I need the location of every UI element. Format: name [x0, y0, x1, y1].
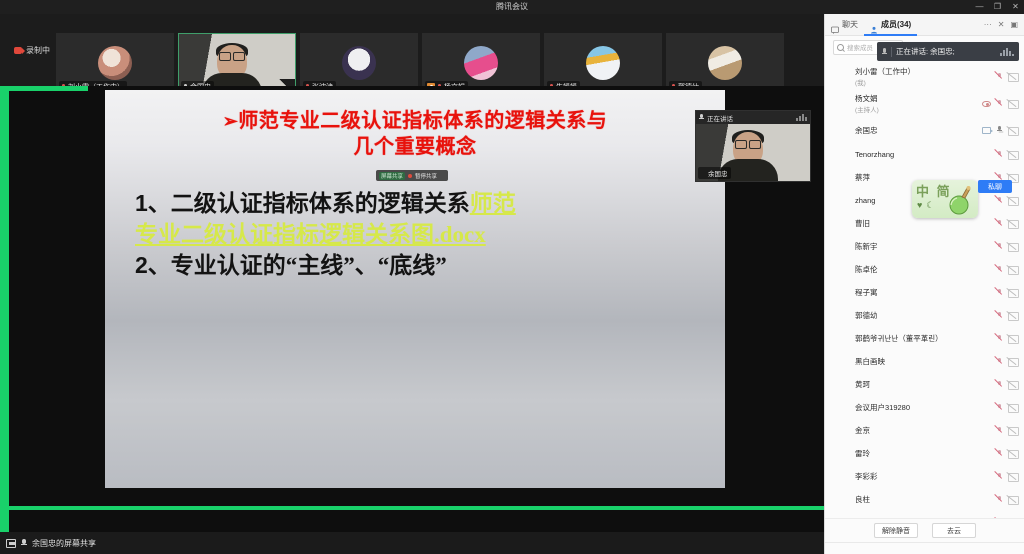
- slide-bullet-2: 2、专业认证的“主线”、“底线”: [135, 250, 705, 281]
- pip-nameplate: 余国忠: [698, 167, 731, 179]
- mic-off-icon[interactable]: [996, 242, 1003, 251]
- panel-bottom-edge: [825, 542, 1024, 554]
- mic-on-icon: [882, 48, 887, 56]
- speaking-toast-text: 正在讲话: 余国忠;: [896, 46, 955, 57]
- list-item[interactable]: 陈新宇: [825, 235, 1024, 258]
- mic-off-icon[interactable]: [996, 311, 1003, 320]
- row-icons: [996, 380, 1017, 389]
- share-border-bottom: [0, 506, 824, 510]
- chat-icon: [831, 21, 839, 29]
- participant-name: 余国忠: [855, 125, 878, 136]
- avatar: [835, 70, 849, 84]
- mic-off-icon[interactable]: [996, 334, 1003, 343]
- list-item[interactable]: 黄珂: [825, 373, 1024, 396]
- panel-close-icon[interactable]: ✕: [998, 20, 1005, 29]
- row-icons: [996, 242, 1017, 251]
- mic-off-icon[interactable]: [996, 472, 1003, 481]
- status-text: 余国忠的屏幕共享: [32, 538, 96, 549]
- mic-off-icon[interactable]: [996, 219, 1003, 228]
- mic-off-icon[interactable]: [996, 449, 1003, 458]
- avatar: [835, 447, 849, 461]
- camera-off-icon[interactable]: [1008, 381, 1017, 388]
- participant-name: zhang: [855, 196, 875, 205]
- tab-members[interactable]: 成员(34): [864, 14, 917, 36]
- camera-off-icon[interactable]: [1008, 151, 1017, 158]
- camera-off-icon[interactable]: [1008, 312, 1017, 319]
- list-item[interactable]: 李彩彩: [825, 465, 1024, 488]
- camera-off-icon[interactable]: [1008, 335, 1017, 342]
- mic-off-icon[interactable]: [996, 150, 1003, 159]
- shared-screen-stage: ➢师范专业二级认证指标体系的逻辑关系与 几个重要概念 1、二级认证指标体系的逻辑…: [0, 86, 824, 532]
- participant-name: 李彩彩: [855, 471, 878, 482]
- slide-heading-line1: 师范专业二级认证指标体系的逻辑关系与: [238, 110, 607, 132]
- audio-wave-icon: [1000, 48, 1014, 56]
- search-icon: [837, 44, 844, 51]
- tab-chat-label: 聊天: [842, 19, 858, 30]
- camera-off-icon[interactable]: [1008, 496, 1017, 503]
- self-view-pip[interactable]: 正在讲话 余国忠: [695, 110, 811, 182]
- panel-dock-icon[interactable]: ▣: [1010, 20, 1018, 29]
- avatar: [464, 46, 498, 80]
- divider: [891, 47, 892, 57]
- participant-name: 刘小雷（工作中）: [855, 66, 915, 77]
- avatar: [835, 309, 849, 323]
- avatar: [835, 378, 849, 392]
- share-border-top: [0, 86, 88, 91]
- camera-off-icon[interactable]: [1008, 100, 1017, 107]
- pause-share-label[interactable]: 暂停共享: [415, 172, 437, 180]
- row-icons: [996, 357, 1017, 366]
- avatar: [835, 240, 849, 254]
- presentation-slide: ➢师范专业二级认证指标体系的逻辑关系与 几个重要概念 1、二级认证指标体系的逻辑…: [105, 90, 725, 488]
- private-chat-button[interactable]: 私聊: [978, 180, 1012, 193]
- audio-level-icon: [796, 114, 807, 121]
- list-item[interactable]: 刘小雷（工作中） (我): [825, 63, 1024, 90]
- list-item[interactable]: 会议用户319280: [825, 396, 1024, 419]
- participant-name: 郭德幼: [855, 310, 878, 321]
- list-item[interactable]: 郭德幼: [825, 304, 1024, 327]
- mic-off-icon[interactable]: [996, 380, 1003, 389]
- pip-header: 正在讲话: [696, 111, 810, 124]
- tab-chat[interactable]: 聊天: [825, 14, 864, 36]
- share-border-left: [0, 86, 9, 532]
- heart-icon: ♥: [917, 200, 922, 211]
- row-icons: [996, 72, 1017, 81]
- camera-off-icon[interactable]: [1008, 404, 1017, 411]
- participant-filmstrip: 录制中 刘小雷（工作中）: [0, 14, 824, 86]
- window-title: 腾讯会议: [0, 0, 1024, 14]
- mic-off-icon[interactable]: [996, 357, 1003, 366]
- row-icons: [982, 99, 1017, 108]
- members-icon: [870, 21, 878, 29]
- microphone-icon: [21, 539, 27, 548]
- avatar: [835, 424, 849, 438]
- participant-name: 黄珂: [855, 379, 870, 390]
- row-icons: [996, 219, 1017, 228]
- flask-icon: [945, 185, 975, 215]
- mute-all-button[interactable]: 去云: [932, 523, 976, 538]
- avatar: [835, 470, 849, 484]
- mic-off-icon[interactable]: [996, 99, 1003, 108]
- mic-off-icon[interactable]: [996, 426, 1003, 435]
- list-item[interactable]: 郭鹤爷귀난난（董平革린）: [825, 327, 1024, 350]
- row-icons: [996, 196, 1017, 205]
- list-item[interactable]: 黑白画映: [825, 350, 1024, 373]
- camera-off-icon[interactable]: [1008, 289, 1017, 296]
- camera-off-icon[interactable]: [1008, 358, 1017, 365]
- slide-heading: ➢师范专业二级认证指标体系的逻辑关系与 几个重要概念: [105, 108, 725, 160]
- list-item[interactable]: 杨文娟 (主持人): [825, 90, 1024, 117]
- camera-off-icon[interactable]: [1008, 450, 1017, 457]
- speaking-toast: 正在讲话: 余国忠;: [877, 42, 1019, 61]
- row-icons: [996, 265, 1017, 274]
- mic-off-icon[interactable]: [996, 265, 1003, 274]
- list-item[interactable]: 雷玲: [825, 442, 1024, 465]
- avatar: [835, 194, 849, 208]
- list-item[interactable]: 程子寓: [825, 281, 1024, 304]
- mic-off-icon[interactable]: [996, 403, 1003, 412]
- screen-share-toolbar[interactable]: 屏幕共享 暂停共享: [376, 170, 448, 181]
- row-icons: [996, 449, 1017, 458]
- row-icons: [996, 288, 1017, 297]
- list-item[interactable]: 余国忠: [825, 117, 1024, 143]
- mic-active-icon[interactable]: [996, 126, 1003, 135]
- row-icons: [996, 426, 1017, 435]
- private-chat-label: 私聊: [988, 182, 1002, 192]
- participant-name: 会议用户319280: [855, 402, 910, 413]
- side-panel: 聊天 成员(34) ··· ✕ ▣ 搜索成员 正: [824, 14, 1024, 554]
- mic-on-icon: [701, 170, 706, 177]
- bullet-number: 2、: [135, 252, 171, 278]
- participant-name: 雷玲: [855, 448, 870, 459]
- participant-name: 蔡萍: [855, 172, 870, 183]
- avatar: [835, 286, 849, 300]
- bullet-text: 二级认证指标体系的逻辑关系: [171, 191, 470, 216]
- avatar: [342, 46, 376, 80]
- camera-off-icon[interactable]: [1008, 427, 1017, 434]
- slide-body: 1、二级认证指标体系的逻辑关系师范 专业二级认证指标逻辑关系图.docx 2、专…: [135, 188, 705, 281]
- slide-bullet-1: 1、二级认证指标体系的逻辑关系师范: [135, 188, 705, 219]
- window-controls: — ❐ ✕: [975, 0, 1020, 14]
- row-icons: [996, 150, 1017, 159]
- avatar: [835, 217, 849, 231]
- eye-icon[interactable]: [982, 101, 991, 107]
- participant-role: (主持人): [855, 104, 879, 114]
- ime-status-popup[interactable]: 中 简 ♥ ☾: [912, 180, 978, 218]
- list-item[interactable]: Tenorzhang: [825, 143, 1024, 166]
- participant-name: 曹旧: [855, 218, 870, 229]
- avatar: [708, 46, 742, 80]
- participant-name: 郭鹤爷귀난난（董平革린）: [855, 333, 943, 344]
- row-icons: [996, 334, 1017, 343]
- minimize-icon[interactable]: —: [975, 0, 984, 14]
- window-titlebar: 腾讯会议 — ❐ ✕: [0, 0, 1024, 14]
- row-icons: [996, 495, 1017, 504]
- slide-heading-line2: 几个重要概念: [105, 134, 725, 160]
- document-link-continued[interactable]: 专业二级认证指标逻辑关系图.docx: [135, 222, 486, 247]
- avatar: [835, 493, 849, 507]
- avatar: [586, 46, 620, 80]
- participant-role: (我): [855, 77, 915, 87]
- mic-off-icon[interactable]: [996, 196, 1003, 205]
- row-icons: [996, 311, 1017, 320]
- row-icons: [996, 472, 1017, 481]
- mic-on-icon: [699, 114, 704, 121]
- stop-share-icon[interactable]: [408, 174, 412, 178]
- avatar: [835, 401, 849, 415]
- mic-off-icon[interactable]: [996, 288, 1003, 297]
- camera-on-icon[interactable]: [982, 127, 991, 134]
- avatar: [98, 46, 132, 80]
- participant-list[interactable]: 刘小雷（工作中） (我) 杨文娟 (主持人): [825, 63, 1024, 532]
- share-status-label: 屏幕共享: [379, 172, 405, 180]
- avatar: [835, 148, 849, 162]
- avatar: [835, 263, 849, 277]
- bullet-number: 1、: [135, 190, 171, 216]
- avatar: [835, 123, 849, 137]
- participant-name: 程子寓: [855, 287, 878, 298]
- participant-name: Tenorzhang: [855, 150, 894, 159]
- moon-icon: ☾: [926, 200, 934, 211]
- avatar: [835, 171, 849, 185]
- recording-badge: 录制中: [14, 45, 50, 56]
- maximize-icon[interactable]: ❐: [993, 0, 1002, 14]
- row-icons: [982, 126, 1017, 135]
- document-link[interactable]: 师范: [470, 191, 516, 216]
- bullet-arrow-icon: ➢: [223, 111, 239, 131]
- participant-name: 陈卓伦: [855, 264, 878, 275]
- search-placeholder: 搜索成员: [847, 42, 873, 52]
- recording-label: 录制中: [26, 45, 50, 56]
- camera-off-icon[interactable]: [1008, 127, 1017, 134]
- panel-controls: ··· ✕ ▣: [984, 20, 1024, 29]
- bullet-text: 专业认证的“主线”、“底线”: [171, 253, 447, 278]
- avatar: [835, 97, 849, 111]
- panel-footer: 解除静音 去云: [825, 518, 1024, 542]
- participant-name: 杨文娟: [855, 93, 879, 104]
- screen-share-icon: [6, 539, 16, 548]
- camera-off-icon[interactable]: [1008, 197, 1017, 204]
- more-options-icon[interactable]: ···: [984, 20, 992, 29]
- camera-off-icon[interactable]: [1008, 473, 1017, 480]
- avatar: [835, 355, 849, 369]
- row-icons: [996, 403, 1017, 412]
- panel-tabs: 聊天 成员(34) ··· ✕ ▣: [825, 14, 1024, 36]
- camera-off-icon[interactable]: [1008, 243, 1017, 250]
- tab-members-label: 成员(34): [881, 19, 911, 30]
- list-item[interactable]: 金京: [825, 419, 1024, 442]
- participant-name: 良柱: [855, 494, 870, 505]
- tencent-meeting-window: 腾讯会议 — ❐ ✕ 录制中 刘小雷（工作中）: [0, 0, 1024, 554]
- slide-bullet-1-link-continued: 专业二级认证指标逻辑关系图.docx: [135, 219, 705, 250]
- list-item[interactable]: 良柱: [825, 488, 1024, 511]
- pip-participant-name: 余国忠: [708, 168, 728, 178]
- camera-off-icon[interactable]: [1008, 220, 1017, 227]
- camera-off-icon[interactable]: [1008, 266, 1017, 273]
- participant-name: 黑白画映: [855, 356, 885, 367]
- participant-name: 陈新宇: [855, 241, 878, 252]
- mic-off-icon[interactable]: [996, 72, 1003, 81]
- pip-status-label: 正在讲话: [707, 113, 733, 123]
- avatar: [835, 332, 849, 346]
- participant-name: 金京: [855, 425, 870, 436]
- unmute-button[interactable]: 解除静音: [874, 523, 918, 538]
- mic-off-icon[interactable]: [996, 495, 1003, 504]
- close-icon[interactable]: ✕: [1011, 0, 1020, 14]
- camera-off-icon[interactable]: [1008, 73, 1017, 80]
- recording-icon: [14, 47, 22, 54]
- list-item[interactable]: 陈卓伦: [825, 258, 1024, 281]
